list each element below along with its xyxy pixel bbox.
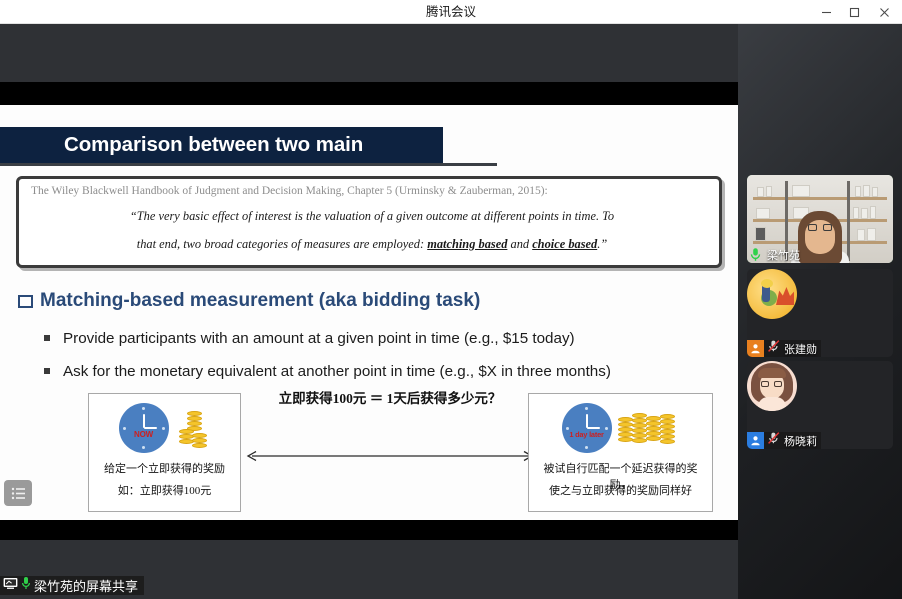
bullet-label: Ask for the monetary equivalent at anoth… (63, 363, 611, 380)
bullet-item: Ask for the monetary equivalent at anoth… (44, 360, 734, 382)
participant-face (798, 211, 842, 263)
window-title-bar: 腾讯会议 (0, 0, 902, 24)
presentation-slide: Comparison between two main The Wiley Bl… (0, 105, 738, 520)
diagram-box-delayed: 1 day later (528, 393, 713, 512)
maximize-button[interactable] (840, 0, 868, 24)
minimize-button[interactable] (812, 0, 840, 24)
quote-line2-mid: and (507, 237, 532, 251)
coins-icon (175, 403, 211, 453)
microphone-muted-icon (767, 431, 781, 449)
clock-icon: NOW (119, 403, 169, 453)
diagram-art-delayed: 1 day later (529, 400, 712, 456)
slide-menu-button[interactable] (4, 480, 32, 506)
section-heading-label: Matching-based measurement (aka bidding … (40, 290, 480, 312)
quote-source: The Wiley Blackwell Handbook of Judgment… (31, 185, 711, 197)
meeting-stage: Comparison between two main The Wiley Bl… (0, 24, 902, 599)
participant-footer: 杨晓莉 (747, 432, 821, 449)
shared-screen-region[interactable]: Comparison between two main The Wiley Bl… (0, 24, 738, 599)
square-bullet-icon (44, 368, 50, 374)
slide-title-underline (0, 163, 497, 166)
coins-icon (618, 403, 680, 453)
microphone-icon (21, 576, 31, 595)
clock-icon: 1 day later (562, 403, 612, 453)
screen-share-label: 梁竹苑的屏幕共享 (34, 576, 138, 595)
microphone-on-icon (747, 246, 764, 263)
quote-emphasis-matching: matching based (427, 237, 507, 251)
participant-tile[interactable]: 杨晓莉 (747, 361, 893, 449)
clock-label: NOW (119, 430, 169, 439)
participant-rail: 梁竹苑 (738, 24, 902, 599)
participant-name: 张建勋 (784, 341, 817, 357)
bullet-label: Provide participants with an amount at a… (63, 330, 575, 347)
matching-task-diagram: NOW (0, 393, 738, 520)
avatar (747, 269, 797, 319)
quote-line2-post: .” (597, 237, 607, 251)
participant-name: 梁竹苑 (767, 247, 800, 263)
quote-box: The Wiley Blackwell Handbook of Judgment… (16, 176, 722, 268)
screen-share-banner: 梁竹苑的屏幕共享 (0, 576, 144, 595)
diagram-art-immediate: NOW (89, 400, 240, 456)
double-headed-arrow-icon (244, 449, 536, 463)
participant-footer: 梁竹苑 (747, 246, 804, 263)
letterbox-top (0, 82, 738, 105)
diagram-caption-line: 给定一个立即获得的奖励 (93, 460, 236, 476)
quote-emphasis-choice: choice based (532, 237, 597, 251)
slide-title: Comparison between two main (64, 127, 444, 163)
participant-tile[interactable]: 梁竹苑 (747, 175, 893, 263)
square-outline-bullet-icon (18, 295, 33, 308)
participant-name: 杨晓莉 (784, 433, 817, 449)
diagram-box-immediate: NOW (88, 393, 241, 512)
square-bullet-icon (44, 335, 50, 341)
quote-line-1: “The very basic effect of interest is th… (39, 209, 705, 224)
participant-footer: 张建勋 (747, 340, 821, 357)
diagram-caption-line: 如：立即获得100元 (93, 482, 236, 498)
bullet-item: Provide participants with an amount at a… (44, 327, 734, 349)
diagram-caption-line: 使之与立即获得的奖励同样好 (533, 482, 708, 498)
avatar (747, 361, 797, 411)
microphone-muted-icon (767, 339, 781, 357)
clock-label: 1 day later (562, 430, 612, 439)
screen-share-icon (3, 577, 18, 595)
participant-tile[interactable]: 张建勋 (747, 269, 893, 357)
quote-line-2: that end, two broad categories of measur… (39, 237, 705, 252)
section-heading: Matching-based measurement (aka bidding … (18, 288, 718, 314)
close-button[interactable] (870, 0, 898, 24)
letterbox-bottom (0, 520, 738, 540)
quote-line2-pre: that end, two broad categories of measur… (137, 237, 427, 251)
diagram-equation: 立即获得100元 ＝ 1天后获得多少元？ (256, 387, 524, 407)
window-title: 腾讯会议 (0, 0, 902, 24)
person-badge-icon (747, 432, 764, 449)
person-badge-icon (747, 340, 764, 357)
